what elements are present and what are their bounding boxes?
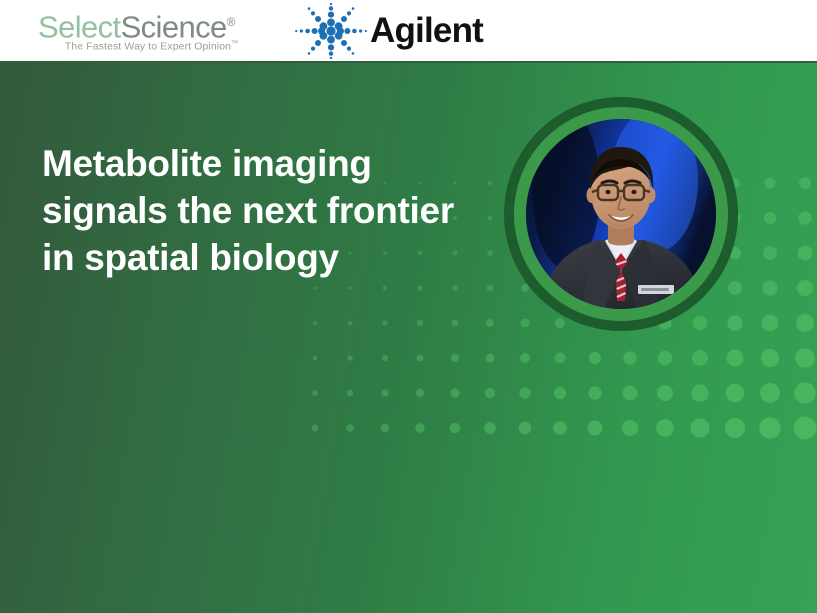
title-line-1: Metabolite imaging [42,140,472,187]
selectscience-logo[interactable]: SelectScience® The Fastest Way to Expert… [38,6,243,56]
webinar-promo-slide: SelectScience® The Fastest Way to Expert… [0,0,817,613]
header-divider [0,61,817,63]
agilent-logo[interactable]: Agilent [292,3,462,59]
agilent-wordmark: Agilent [370,9,483,53]
slide-background: Metabolite imaging signals the next fron… [0,63,817,613]
title-line-2: signals the next frontier [42,187,472,234]
page-title: Metabolite imaging signals the next fron… [42,140,472,281]
avatar [504,97,738,331]
header-bar: SelectScience® The Fastest Way to Expert… [0,0,817,62]
avatar-photo-clip [526,119,716,309]
registered-trademark-icon: ® [227,15,235,29]
speaker-headshot-illustration [526,119,716,309]
selectscience-wordmark: SelectScience® [38,6,243,38]
trademark-icon: ™ [231,40,238,47]
agilent-starburst-icon [292,3,370,59]
selectscience-tagline: The Fastest Way to Expert Opinion™ [60,40,243,53]
selectscience-tagline-text: The Fastest Way to Expert Opinion [65,41,231,53]
title-line-3: in spatial biology [42,234,472,281]
